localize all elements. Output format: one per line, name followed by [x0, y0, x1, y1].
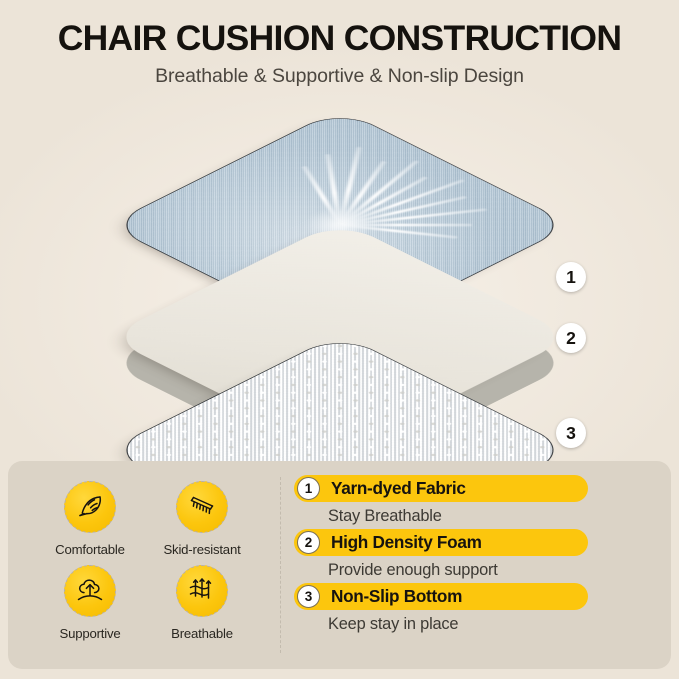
feature-icon-skid-resistant[interactable]: Skid-resistant — [146, 481, 258, 557]
feature-pill: 1 Yarn-dyed Fabric — [294, 475, 588, 502]
feature-icon-comfortable[interactable]: Comfortable — [34, 481, 146, 557]
page-title: CHAIR CUSHION CONSTRUCTION — [0, 20, 679, 57]
feature-item-1[interactable]: 1 Yarn-dyed Fabric Stay Breathable — [294, 475, 661, 526]
icon-label: Supportive — [59, 626, 120, 641]
feature-icon-breathable[interactable]: Breathable — [146, 565, 258, 641]
airflow-icon — [176, 565, 228, 617]
infographic-page: CHAIR CUSHION CONSTRUCTION Breathable & … — [0, 0, 679, 679]
feature-icon-supportive[interactable]: Supportive — [34, 565, 146, 641]
cushion-exploded-diagram: 1 2 3 — [0, 96, 679, 456]
comb-grip-icon — [176, 481, 228, 533]
icon-label: Skid-resistant — [163, 542, 240, 557]
feature-pill: 3 Non-Slip Bottom — [294, 583, 588, 610]
feature-panel: Comfortable — [8, 461, 671, 669]
icon-label: Breathable — [171, 626, 233, 641]
icon-feature-group: Comfortable — [8, 461, 280, 669]
page-subtitle: Breathable & Supportive & Non-slip Desig… — [0, 65, 679, 88]
feature-item-2[interactable]: 2 High Density Foam Provide enough suppo… — [294, 529, 661, 580]
layer-badge-2: 2 — [556, 323, 586, 353]
icon-label: Comfortable — [55, 542, 125, 557]
header: CHAIR CUSHION CONSTRUCTION Breathable & … — [0, 20, 679, 88]
feature-number-badge: 1 — [297, 477, 320, 500]
feature-title: Non-Slip Bottom — [331, 586, 462, 607]
feature-title: High Density Foam — [331, 532, 482, 553]
numbered-feature-list: 1 Yarn-dyed Fabric Stay Breathable 2 Hig… — [280, 461, 671, 669]
feather-icon — [64, 481, 116, 533]
feature-number-badge: 3 — [297, 585, 320, 608]
feature-subtitle: Stay Breathable — [328, 507, 661, 526]
feature-pill: 2 High Density Foam — [294, 529, 588, 556]
feature-number-badge: 2 — [297, 531, 320, 554]
feature-subtitle: Provide enough support — [328, 561, 661, 580]
feature-subtitle: Keep stay in place — [328, 615, 661, 634]
layer-badge-3: 3 — [556, 418, 586, 448]
feature-item-3[interactable]: 3 Non-Slip Bottom Keep stay in place — [294, 583, 661, 634]
layer-badge-1: 1 — [556, 262, 586, 292]
cushion-arrow-icon — [64, 565, 116, 617]
feature-title: Yarn-dyed Fabric — [331, 478, 466, 499]
